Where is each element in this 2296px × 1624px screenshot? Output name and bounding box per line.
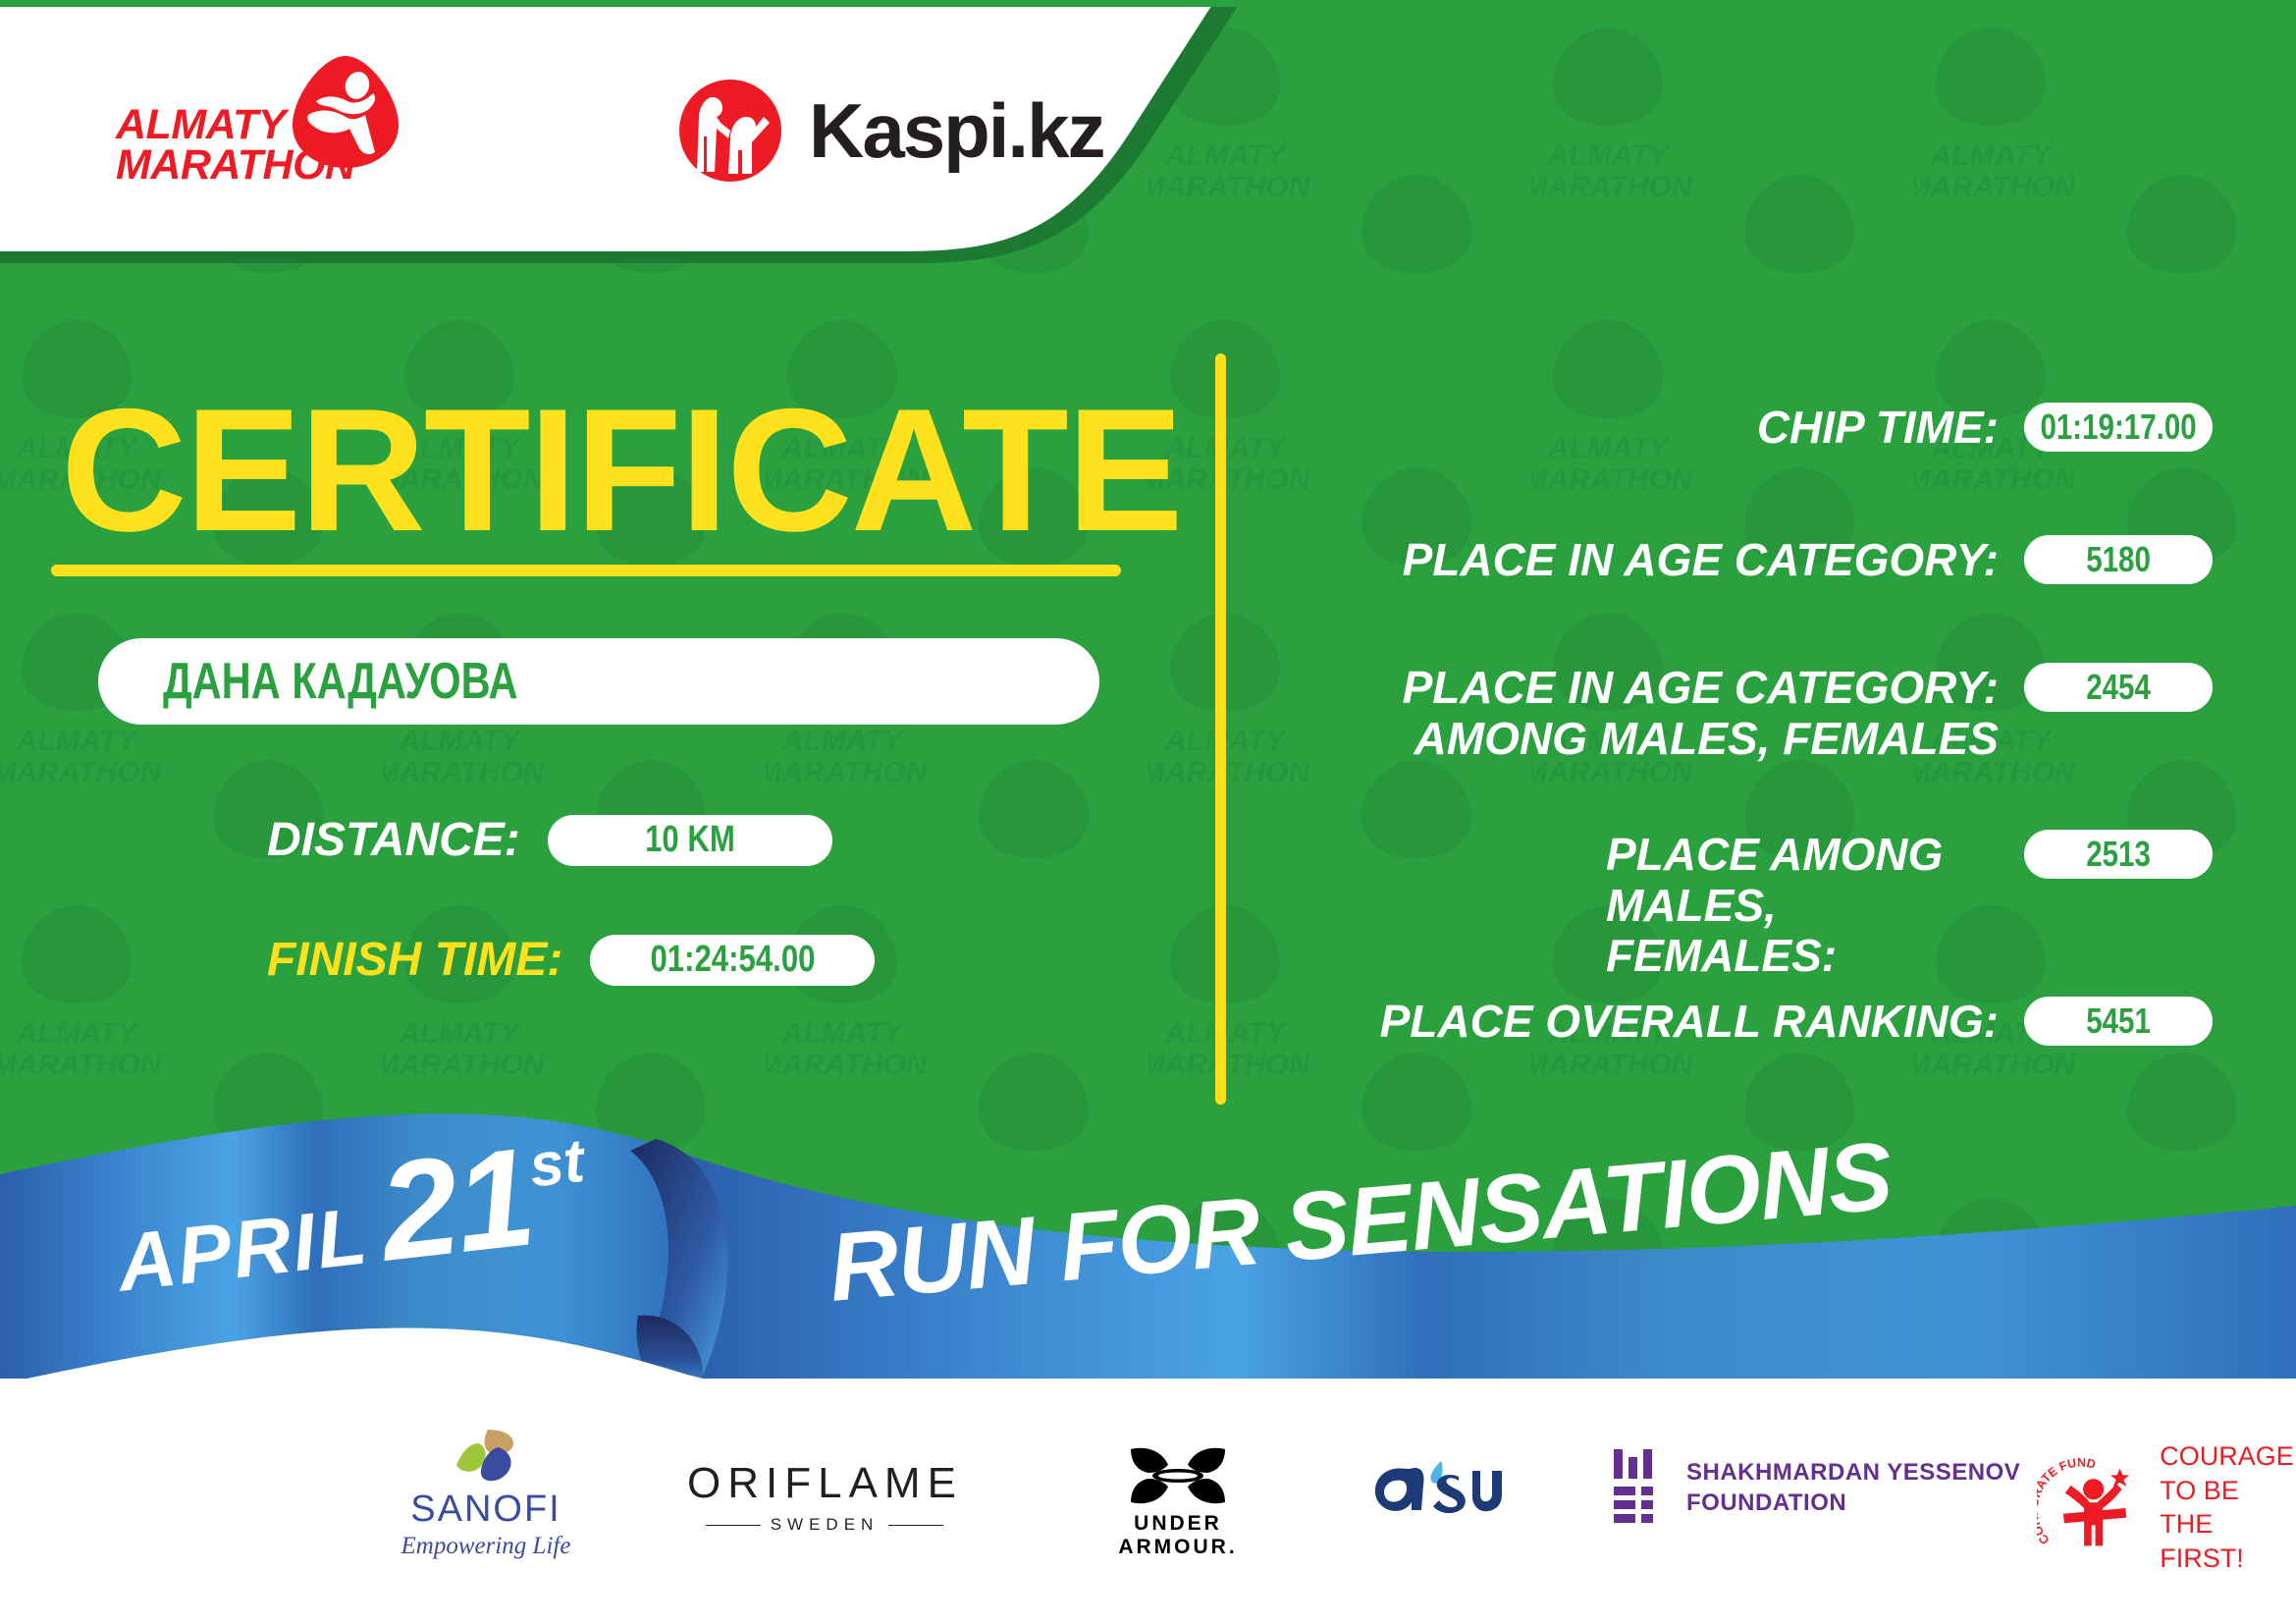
result-value: 01:19:17.00 — [2040, 406, 2196, 448]
column-divider — [1215, 353, 1226, 1105]
result-row-place-age-category-among: PLACE IN AGE CATEGORY: AMONG MALES, FEMA… — [1311, 663, 2213, 764]
header-bar: ALMATY MARATHON Kaspi.kz — [0, 7, 1227, 262]
event-day-suffix: st — [526, 1126, 588, 1202]
distance-value: 10 KM — [645, 819, 735, 861]
sponsor-oriflame-label: ORIFLAME — [687, 1459, 962, 1508]
finish-time-value-pill: 01:24:54.00 — [590, 935, 875, 986]
event-day: 21 — [372, 1116, 541, 1293]
yessenov-foundation-logo-icon — [1610, 1447, 1665, 1528]
distance-label: DISTANCE: — [267, 813, 520, 867]
result-value: 5451 — [2086, 1001, 2151, 1042]
sponsor-under-armour-label: UNDER ARMOUR. — [1080, 1512, 1276, 1559]
sponsor-oriflame: ORIFLAME SWEDEN — [687, 1459, 962, 1535]
kaspi-wordmark: Kaspi.kz — [809, 86, 1103, 176]
result-value-pill: 2513 — [2024, 830, 2213, 879]
title-underline — [51, 565, 1121, 576]
under-armour-logo-icon — [1123, 1443, 1233, 1508]
result-label: PLACE IN AGE CATEGORY: AMONG MALES, FEMA… — [1311, 663, 1999, 764]
distance-value-pill: 10 KM — [548, 815, 832, 866]
certificate-canvas: ALMATY MARATHON ALMATY — [0, 0, 2296, 1624]
result-row-place-among-males-females: PLACE AMONG MALES, FEMALES: 2513 — [1311, 830, 2213, 982]
page-title: CERTIFICATE — [61, 383, 1182, 558]
sponsor-oriflame-subline: SWEDEN — [687, 1515, 962, 1535]
result-value-pill: 5180 — [2024, 535, 2213, 584]
finish-time-label: FINISH TIME: — [267, 933, 562, 987]
result-value: 5180 — [2086, 539, 2151, 580]
result-label: PLACE OVERALL RANKING: — [1311, 997, 1999, 1048]
kaspi-logo: Kaspi.kz — [677, 78, 1103, 184]
divider-left — [706, 1525, 761, 1526]
sponsor-asu — [1364, 1451, 1510, 1537]
sponsor-sanofi-label: SANOFI — [388, 1489, 584, 1531]
sponsor-courage-to-be-the-first: CORPORATE FUND COURAGE TO BE THE FIRST! — [2037, 1439, 2296, 1575]
finish-time-value: 01:24:54.00 — [650, 939, 815, 981]
almaty-marathon-wordmark: ALMATY MARATHON — [116, 105, 381, 187]
result-value: 2513 — [2086, 834, 2151, 875]
logo-line-2: MARATHON — [116, 145, 381, 186]
result-label: CHIP TIME: — [1311, 403, 1999, 454]
sponsor-oriflame-tagline: SWEDEN — [771, 1515, 880, 1535]
finish-time-row: FINISH TIME: 01:24:54.00 — [267, 933, 875, 987]
result-value-pill: 2454 — [2024, 663, 2213, 712]
sponsor-courage-label: COURAGE TO BE THE FIRST! — [2160, 1439, 2296, 1575]
result-row-chip-time: CHIP TIME: 01:19:17.00 — [1311, 403, 2213, 454]
asu-logo-icon — [1364, 1451, 1510, 1532]
result-value-pill: 5451 — [2024, 997, 2213, 1046]
result-label: PLACE AMONG MALES, FEMALES: — [1311, 830, 1999, 982]
distance-row: DISTANCE: 10 KM — [267, 813, 832, 867]
almaty-marathon-logo: ALMATY MARATHON — [116, 54, 450, 211]
result-row-place-age-category: PLACE IN AGE CATEGORY: 5180 — [1311, 535, 2213, 586]
sponsor-yessenov-label: SHAKHMARDAN YESSENOV FOUNDATION — [1686, 1457, 2020, 1518]
event-month: APRIL — [113, 1190, 373, 1310]
logo-line-1: ALMATY — [116, 105, 381, 145]
sponsor-yessenov-foundation: SHAKHMARDAN YESSENOV FOUNDATION — [1610, 1447, 2020, 1528]
participant-name: ДАНА КАДАУОВА — [163, 652, 518, 711]
participant-name-field: ДАНА КАДАУОВА — [98, 638, 1099, 725]
top-green-rule — [0, 0, 2296, 7]
result-value: 2454 — [2086, 667, 2151, 708]
courage-to-be-the-first-logo-icon: CORPORATE FUND — [2037, 1453, 2150, 1561]
result-label: PLACE IN AGE CATEGORY: — [1311, 535, 1999, 586]
sanofi-logo-icon — [449, 1426, 523, 1487]
sponsor-under-armour: UNDER ARMOUR. — [1080, 1443, 1276, 1559]
divider-right — [888, 1525, 943, 1526]
sponsor-sanofi-tagline: Empowering Life — [388, 1533, 584, 1560]
result-value-pill: 01:19:17.00 — [2024, 403, 2213, 452]
sponsor-sanofi: SANOFI Empowering Life — [388, 1426, 584, 1560]
kaspi-family-icon — [677, 78, 783, 184]
result-row-place-overall-ranking: PLACE OVERALL RANKING: 5451 — [1311, 997, 2213, 1048]
